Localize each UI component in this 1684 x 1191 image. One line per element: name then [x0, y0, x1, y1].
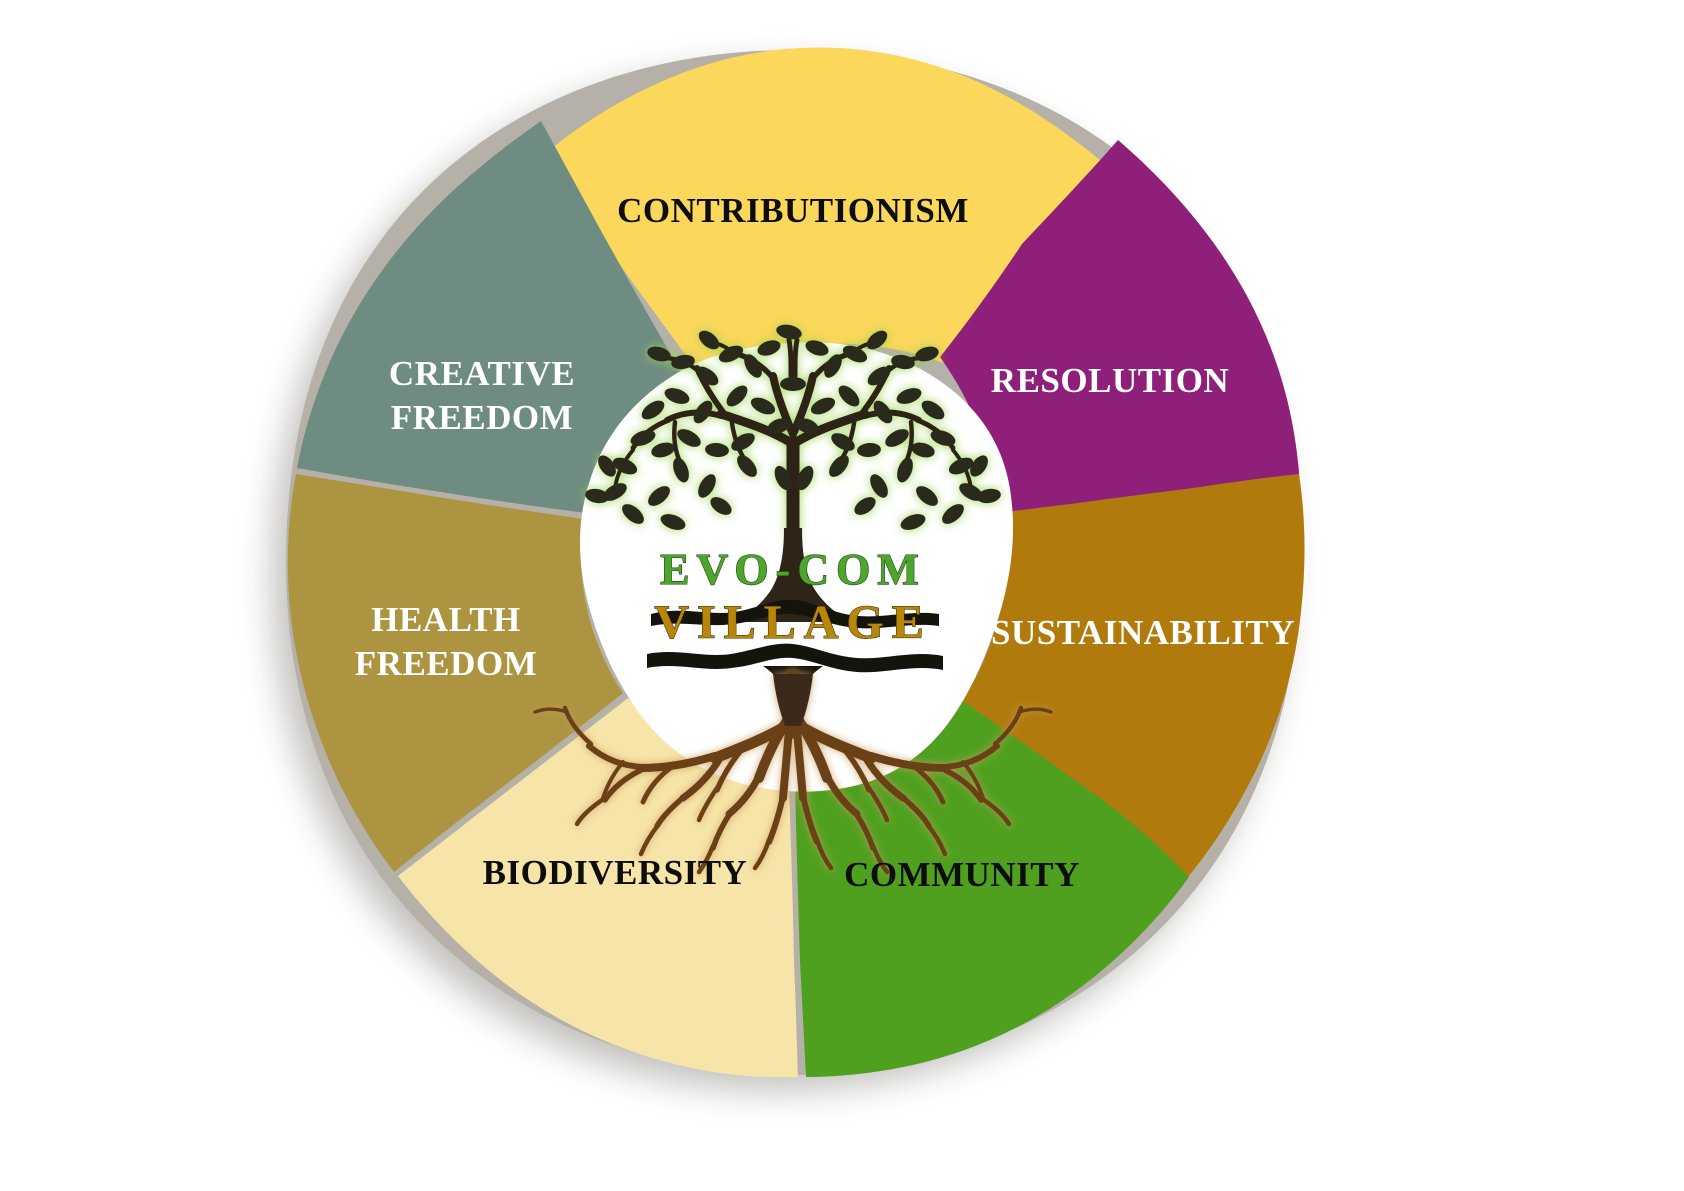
diagram-canvas: EVO-COM VILLAGE	[0, 0, 1684, 1191]
segment-label-creative-freedom-line2: FREEDOM	[391, 398, 573, 437]
values-wheel-diagram: EVO-COM VILLAGE	[0, 0, 1684, 1191]
segment-label-health-freedom-line1: HEALTH	[371, 600, 521, 639]
segment-label-creative-freedom-line1: CREATIVE	[389, 354, 575, 393]
segment-label-health-freedom-line2: FREEDOM	[355, 644, 537, 683]
segment-label-sustainability: SUSTAINABILITY	[991, 613, 1295, 652]
logo-line-village: VILLAGE	[654, 596, 931, 649]
segment-label-community: COMMUNITY	[844, 855, 1080, 894]
logo-line-evo-com: EVO-COM	[660, 545, 926, 594]
segment-label-biodiversity: BIODIVERSITY	[483, 853, 748, 892]
segment-label-contributionism: CONTRIBUTIONISM	[617, 191, 969, 230]
segment-label-resolution: RESOLUTION	[991, 361, 1229, 400]
